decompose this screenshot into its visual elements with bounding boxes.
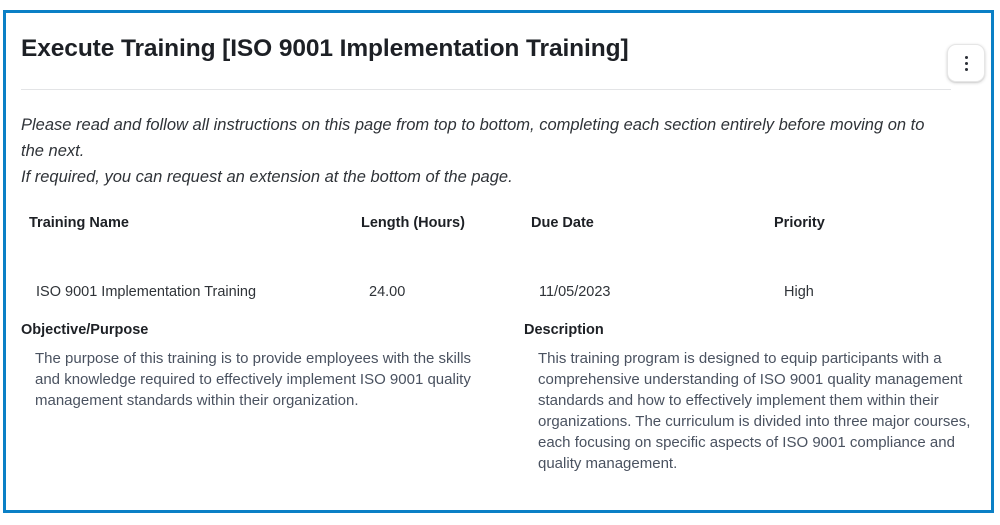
column-header-priority: Priority (774, 215, 825, 231)
description-column: Description This training program is des… (524, 322, 974, 474)
summary-table: Training Name Length (Hours) Due Date Pr… (21, 215, 971, 275)
kebab-menu-icon-dot-2 (965, 62, 968, 65)
description-text: This training program is designed to equ… (538, 348, 974, 474)
kebab-menu-icon (965, 56, 968, 59)
instructions-block: Please read and follow all instructions … (21, 112, 951, 190)
objective-column: Objective/Purpose The purpose of this tr… (21, 322, 476, 411)
column-header-due-date: Due Date (531, 215, 594, 231)
cell-priority: High (784, 284, 814, 300)
training-card: Execute Training [ISO 9001 Implementatio… (3, 10, 994, 513)
objective-text: The purpose of this training is to provi… (35, 348, 476, 411)
cell-length-hours: 24.00 (369, 284, 405, 300)
page-root: Execute Training [ISO 9001 Implementatio… (0, 0, 1000, 525)
cell-training-name: ISO 9001 Implementation Training (36, 284, 256, 300)
cell-due-date: 11/05/2023 (539, 284, 611, 300)
kebab-menu-button[interactable] (947, 44, 985, 82)
column-header-training-name: Training Name (29, 215, 129, 231)
summary-header-row: Training Name Length (Hours) Due Date Pr… (21, 215, 971, 245)
instructions-line-1: Please read and follow all instructions … (21, 116, 924, 160)
table-row: ISO 9001 Implementation Training 24.00 1… (21, 284, 971, 314)
card-inner: Execute Training [ISO 9001 Implementatio… (6, 13, 991, 510)
kebab-menu-icon-dot-3 (965, 68, 968, 71)
instructions-line-2: If required, you can request an extensio… (21, 164, 951, 190)
objective-heading: Objective/Purpose (21, 322, 476, 338)
description-heading: Description (524, 322, 974, 338)
card-header: Execute Training [ISO 9001 Implementatio… (6, 13, 991, 91)
header-divider (21, 89, 951, 90)
page-title: Execute Training [ISO 9001 Implementatio… (21, 35, 629, 63)
column-header-length-hours: Length (Hours) (361, 215, 465, 231)
